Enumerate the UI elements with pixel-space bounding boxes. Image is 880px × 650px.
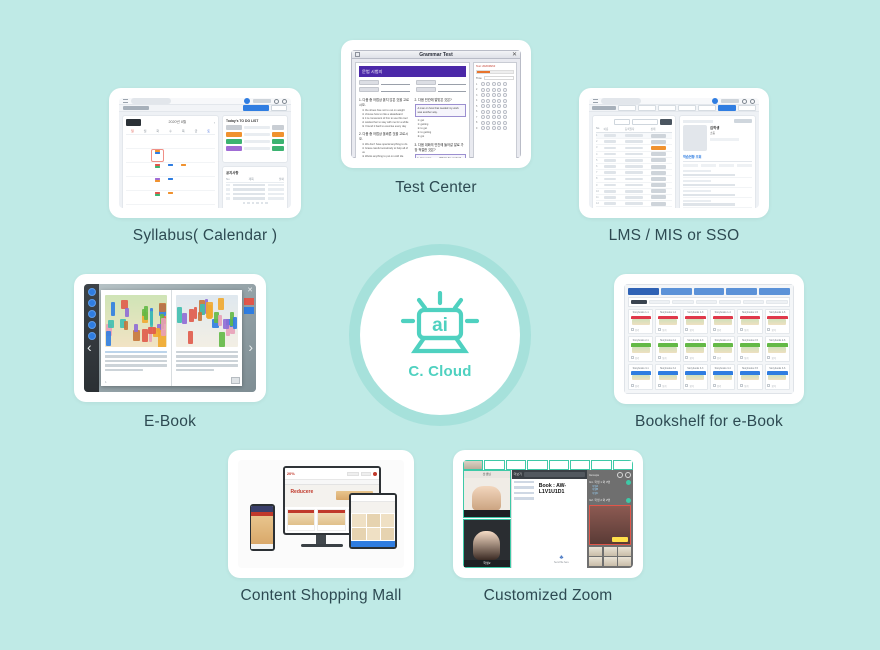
book-actions[interactable]: 보기 xyxy=(740,356,760,360)
calendar-day[interactable] xyxy=(164,191,177,205)
card-lms-mis-sso[interactable]: No이름등록일자상태 12345678910111213 김학생 xyxy=(579,88,769,218)
upload-hint: Send file here xyxy=(536,561,587,564)
board-row[interactable] xyxy=(226,197,284,200)
todo-item[interactable] xyxy=(226,139,284,144)
calendar-day[interactable] xyxy=(151,135,164,149)
bookshelf-grid[interactable]: Storybooks 1-1보기Storybooks 1-2보기Storyboo… xyxy=(628,309,790,391)
todo-title: Today's TO DO LIST xyxy=(226,119,284,123)
field-input-class[interactable] xyxy=(381,81,410,85)
card-bookshelf[interactable]: Storybooks 1-1보기Storybooks 1-2보기Storyboo… xyxy=(614,274,804,404)
book-actions[interactable]: 보기 xyxy=(685,356,705,360)
calendar-day[interactable] xyxy=(164,177,177,191)
book-cover xyxy=(767,343,787,354)
select-checkbox[interactable] xyxy=(713,384,716,387)
bookshelf-tab-1[interactable] xyxy=(661,288,692,295)
book-cell[interactable]: Storybooks 2-3보기 xyxy=(683,336,708,362)
page-text-left xyxy=(105,351,167,371)
todo-item[interactable] xyxy=(226,146,284,151)
weekday-화: 화 xyxy=(151,128,164,135)
field-input-score[interactable] xyxy=(438,88,467,92)
next-page-icon[interactable]: › xyxy=(248,340,253,354)
calendar-day[interactable] xyxy=(177,149,190,163)
bookshelf-tab-0[interactable] xyxy=(628,288,659,295)
book-actions[interactable]: 보기 xyxy=(631,384,651,388)
omr-row[interactable]: 6 xyxy=(476,110,514,114)
label-lms: LMS / MIS or SSO xyxy=(579,227,769,245)
calendar-day[interactable] xyxy=(177,177,190,191)
lms-table-panel[interactable]: No이름등록일자상태 12345678910111213 xyxy=(592,115,676,208)
calendar-day[interactable] xyxy=(202,177,215,191)
book-actions[interactable]: 보기 xyxy=(767,356,787,360)
filter-level-d[interactable] xyxy=(719,300,741,305)
calendar-day[interactable] xyxy=(151,205,164,208)
select-checkbox[interactable] xyxy=(631,356,634,359)
select-checkbox[interactable] xyxy=(631,384,634,387)
card-customized-zoom[interactable]: 선생님 학생2 더보기 xyxy=(453,450,643,578)
calendar-day[interactable] xyxy=(151,149,164,163)
participant-strip[interactable] xyxy=(463,460,633,470)
calendar-day[interactable] xyxy=(164,205,177,208)
groups-panel[interactable]: Groups G1. 학생 1 외 3명 학생A학생B학생C G2. 학생 2 … xyxy=(587,470,633,568)
select-checkbox[interactable] xyxy=(685,384,688,387)
book-cell[interactable]: Storybooks 3-1보기 xyxy=(628,364,653,390)
select-checkbox[interactable] xyxy=(713,328,716,331)
window-title: Grammar Test xyxy=(360,52,512,58)
calendar-day[interactable] xyxy=(177,191,190,205)
group-thumbnails[interactable] xyxy=(589,547,631,567)
ai-text: ai xyxy=(432,315,448,336)
device-smartphone xyxy=(250,504,275,550)
filter-level-e[interactable] xyxy=(743,300,765,305)
poster-canvas: 2020년 8월 › 일월화수목금토 Today's TO DO LIST 공지… xyxy=(0,0,880,650)
weekday-토: 토 xyxy=(202,128,215,135)
detail-item[interactable] xyxy=(683,198,752,208)
calendar-day[interactable] xyxy=(139,177,152,191)
zoom-screenshot: 선생님 학생2 더보기 xyxy=(463,460,633,568)
group-item[interactable]: G2. 학생 2 외 2명 xyxy=(589,498,631,503)
illustration-right xyxy=(176,295,238,347)
book-cover xyxy=(658,316,678,327)
bookmark-icon[interactable] xyxy=(88,288,96,296)
breadcrumb xyxy=(601,98,641,104)
weekday-월: 월 xyxy=(139,128,152,135)
select-checkbox[interactable] xyxy=(740,356,743,359)
test-center-screenshot: Grammar Test ✕ 문법 시험지 xyxy=(351,50,521,158)
test-date: Test: 2020/08/10 xyxy=(476,65,514,68)
detail-item[interactable] xyxy=(683,178,752,188)
group-video[interactable] xyxy=(589,505,631,545)
progress-bar xyxy=(476,70,514,74)
omr-row[interactable]: 2 xyxy=(476,88,514,92)
label-ebook: E-Book xyxy=(74,413,266,431)
question-2-options[interactable]: ① We don't have special anything to do ②… xyxy=(359,143,411,158)
book-cell[interactable]: Storybooks 2-2보기 xyxy=(655,336,680,362)
omr-grid[interactable]: 123456789 xyxy=(476,82,514,158)
book-cover xyxy=(767,371,787,382)
calendar-day[interactable] xyxy=(190,135,203,149)
filter-level-b[interactable] xyxy=(672,300,694,305)
todo-item[interactable] xyxy=(226,125,284,130)
secondary-action-button[interactable] xyxy=(271,105,287,111)
bookshelf-tab-4[interactable] xyxy=(759,288,790,295)
book-cover xyxy=(685,371,705,382)
filter-level-c[interactable] xyxy=(696,300,718,305)
book-actions[interactable]: 보기 xyxy=(767,328,787,332)
book-page-left: 1 xyxy=(101,290,172,386)
calendar-grid[interactable] xyxy=(126,135,215,208)
book-cell[interactable]: Storybooks 2-6보기 xyxy=(765,336,790,362)
book-actions[interactable]: 보기 xyxy=(658,356,678,360)
breadcrumb xyxy=(131,98,171,104)
tab-7[interactable] xyxy=(738,105,756,111)
group-members: 학생A학생B학생C xyxy=(589,485,631,496)
omr-row[interactable]: 8 xyxy=(476,121,514,125)
field-label-class xyxy=(359,80,379,85)
user-name xyxy=(253,99,271,103)
book-actions[interactable]: 보기 xyxy=(631,328,651,332)
section-title xyxy=(592,106,616,110)
label-shopping: Content Shopping Mall xyxy=(228,587,414,605)
lms-tabbar[interactable] xyxy=(589,105,759,112)
book-actions[interactable]: 보기 xyxy=(740,328,760,332)
lms-detail-panel: 김학생 초등 학습현황 조회 xyxy=(679,115,756,208)
close-icon[interactable]: ✕ xyxy=(512,51,517,58)
book-caption: Storybooks 3-4 xyxy=(713,367,733,370)
book-actions[interactable]: 보기 xyxy=(685,328,705,332)
product-card[interactable] xyxy=(287,509,316,531)
calendar-day[interactable] xyxy=(126,163,139,177)
page-corner-icon[interactable] xyxy=(231,377,240,384)
book-cell[interactable]: Storybooks 3-4보기 xyxy=(710,364,735,390)
participant-footer xyxy=(464,510,510,517)
book-cover xyxy=(740,371,760,382)
logo-title: C. Cloud xyxy=(408,363,471,380)
primary-action-button[interactable] xyxy=(243,105,269,111)
select-checkbox[interactable] xyxy=(685,328,688,331)
group-item[interactable]: G1. 학생 1 외 3명 학생A학생B학생C xyxy=(589,480,631,496)
select-checkbox[interactable] xyxy=(713,356,716,359)
video-tile-5[interactable] xyxy=(570,460,590,470)
lms-screenshot: No이름등록일자상태 12345678910111213 김학생 xyxy=(589,98,759,208)
calendar-day[interactable] xyxy=(126,149,139,163)
book-cover xyxy=(631,343,651,354)
detail-item[interactable] xyxy=(683,169,752,179)
product-card[interactable] xyxy=(317,509,346,531)
shopping-screenshot: 20% Reducere xyxy=(238,460,404,568)
search-button[interactable] xyxy=(660,119,672,125)
book-cell[interactable]: Storybooks 2-5보기 xyxy=(737,336,762,362)
weekday-목: 목 xyxy=(177,128,190,135)
device-tablet xyxy=(349,493,397,548)
calendar-day[interactable] xyxy=(177,205,190,208)
prev-icon[interactable] xyxy=(88,299,96,307)
select-checkbox[interactable] xyxy=(767,356,770,359)
book-cover xyxy=(740,316,760,327)
book-actions[interactable]: 보기 xyxy=(767,384,787,388)
answer-sheet-panel[interactable]: Test: 2020/08/10 Time 123456789 xyxy=(473,62,517,158)
calendar-day[interactable] xyxy=(139,149,152,163)
prev-page-icon[interactable]: ‹ xyxy=(87,340,92,354)
book-cell[interactable]: Storybooks 1-2보기 xyxy=(655,309,680,335)
question-1-options[interactable]: ① the shoes free not to out on weight ② … xyxy=(359,109,411,128)
calendar-day[interactable] xyxy=(202,163,215,177)
book-actions[interactable]: 보기 xyxy=(685,384,705,388)
document-toolbar[interactable]: 더보기 xyxy=(512,470,588,479)
field-input-date[interactable] xyxy=(438,81,467,85)
book-caption: Storybooks 2-6 xyxy=(767,339,787,342)
select-checkbox[interactable] xyxy=(740,384,743,387)
detail-action-button[interactable] xyxy=(734,119,752,123)
filter-all-button[interactable] xyxy=(631,300,647,305)
minimize-icon[interactable] xyxy=(617,472,623,478)
select-checkbox[interactable] xyxy=(658,328,661,331)
field-input-name[interactable] xyxy=(381,88,410,92)
book-cell[interactable]: Storybooks 2-1보기 xyxy=(628,336,653,362)
page-icon[interactable] xyxy=(88,310,96,318)
document-search[interactable] xyxy=(524,472,585,477)
todo-item[interactable] xyxy=(226,132,284,137)
calendar-day[interactable] xyxy=(190,191,203,205)
select-checkbox[interactable] xyxy=(767,328,770,331)
book-actions[interactable]: 보기 xyxy=(713,356,733,360)
video-tile-0[interactable] xyxy=(463,460,483,470)
weekday-일: 일 xyxy=(126,128,139,135)
bookshelf-tab-2[interactable] xyxy=(694,288,725,295)
tab-2[interactable] xyxy=(638,105,656,111)
book-actions[interactable]: 보기 xyxy=(658,328,678,332)
table-row[interactable]: 13 xyxy=(596,207,672,208)
calendar-day[interactable] xyxy=(202,135,215,149)
book-cell[interactable]: Storybooks 3-2보기 xyxy=(655,364,680,390)
menu-icon[interactable] xyxy=(123,99,128,103)
calendar-panel[interactable]: 2020년 8월 › 일월화수목금토 xyxy=(122,115,219,208)
book-cover xyxy=(685,316,705,327)
calendar-day[interactable] xyxy=(139,163,152,177)
field-label-score xyxy=(416,87,436,92)
book-cell[interactable]: Storybooks 3-6보기 xyxy=(765,364,790,390)
calendar-day[interactable] xyxy=(126,191,139,205)
book-caption: Storybooks 3-3 xyxy=(685,367,705,370)
gear-icon[interactable] xyxy=(274,99,279,104)
label-syllabus: Syllabus( Calendar ) xyxy=(109,227,301,245)
calendar-day[interactable] xyxy=(164,163,177,177)
shop-logo: 20% xyxy=(287,471,295,476)
select-checkbox[interactable] xyxy=(631,328,634,331)
c-cloud-logo: ai C. Cloud xyxy=(360,255,520,415)
tab-6-active[interactable] xyxy=(718,105,736,111)
card-ebook[interactable]: ‹ › ✕ 1 xyxy=(74,274,266,402)
calendar-day[interactable] xyxy=(126,177,139,191)
power-icon[interactable] xyxy=(282,99,287,104)
illustration-left xyxy=(105,295,167,347)
search-input[interactable] xyxy=(632,119,658,125)
book-actions[interactable]: 보기 xyxy=(713,384,733,388)
calendar-day[interactable] xyxy=(190,149,203,163)
book-caption: Storybooks 2-5 xyxy=(740,339,760,342)
book-actions[interactable]: 보기 xyxy=(631,356,651,360)
participant-student1[interactable]: 학생2 xyxy=(463,519,511,568)
flag-red-icon[interactable] xyxy=(244,298,254,305)
select-checkbox[interactable] xyxy=(658,356,661,359)
book-cover xyxy=(713,316,733,327)
book-actions[interactable]: 보기 xyxy=(713,328,733,332)
calendar-day[interactable] xyxy=(190,177,203,191)
power-icon[interactable] xyxy=(750,99,755,104)
calendar-day[interactable] xyxy=(126,135,139,149)
card-content-shopping-mall[interactable]: 20% Reducere xyxy=(228,450,414,578)
book-caption: Storybooks 1-3 xyxy=(685,311,705,314)
book-caption: Storybooks 1-2 xyxy=(658,311,678,314)
group-status-icon[interactable] xyxy=(626,480,631,485)
card-test-center[interactable]: Grammar Test ✕ 문법 시험지 xyxy=(341,40,531,168)
book-caption: Storybooks 1-1 xyxy=(631,311,651,314)
participant-teacher[interactable]: 선생님 xyxy=(463,470,511,519)
student-level: 초등 xyxy=(710,131,752,135)
question-3: 2. 다음 빈칸에 알맞은 것은? xyxy=(415,97,467,102)
omr-row[interactable]: 9 xyxy=(476,126,514,130)
bookshelf-screenshot: Storybooks 1-1보기Storybooks 1-2보기Storyboo… xyxy=(624,284,794,394)
book-caption: Storybooks 3-2 xyxy=(658,367,678,370)
bookshelf-tabs[interactable] xyxy=(628,288,790,295)
participant-name: 학생2 xyxy=(464,560,510,567)
book-actions[interactable]: 보기 xyxy=(658,384,678,388)
book-caption: Storybooks 3-1 xyxy=(631,367,651,370)
video-tile-2[interactable] xyxy=(506,460,526,470)
book-caption: Storybooks 3-5 xyxy=(740,367,760,370)
weekday-수: 수 xyxy=(164,128,177,135)
calendar-day[interactable] xyxy=(202,191,215,205)
omr-row[interactable]: 7 xyxy=(476,115,514,119)
book-caption: Storybooks 1-6 xyxy=(767,311,787,314)
omr-row[interactable]: 1 xyxy=(476,82,514,86)
bookshelf-filters[interactable] xyxy=(628,297,790,307)
book-cell[interactable]: Storybooks 3-5보기 xyxy=(737,364,762,390)
video-tile-4[interactable] xyxy=(549,460,569,470)
calendar-day[interactable] xyxy=(190,205,203,208)
document-panel[interactable]: 더보기 Book : AW-L1V1U1D1 ♣ Sen xyxy=(511,470,588,568)
document-list[interactable] xyxy=(512,479,536,568)
book-caption: Storybooks 2-4 xyxy=(713,339,733,342)
calendar-day[interactable] xyxy=(126,205,139,208)
book-cell[interactable]: Storybooks 1-6보기 xyxy=(765,309,790,335)
ai-laptop-icon: ai xyxy=(397,291,483,357)
calendar-weekdays: 일월화수목금토 xyxy=(126,128,215,135)
book-cell[interactable]: Storybooks 1-4보기 xyxy=(710,309,735,335)
calendar-day[interactable] xyxy=(202,149,215,163)
avatar xyxy=(712,98,718,104)
select-checkbox[interactable] xyxy=(685,356,688,359)
omr-row[interactable]: 4 xyxy=(476,99,514,103)
board-row[interactable] xyxy=(226,184,284,187)
test-paper: 문법 시험지 xyxy=(355,62,470,158)
calendar-day[interactable] xyxy=(151,163,164,177)
video-tile-1[interactable] xyxy=(484,460,504,470)
next-month-icon[interactable]: › xyxy=(214,120,215,125)
select-checkbox[interactable] xyxy=(740,328,743,331)
field-label-date xyxy=(416,80,436,85)
bookshelf-tab-3[interactable] xyxy=(726,288,757,295)
board-row[interactable] xyxy=(226,193,284,196)
pagination[interactable] xyxy=(226,202,284,205)
close-icon[interactable]: ✕ xyxy=(247,286,253,294)
ebook-toolbar[interactable] xyxy=(84,284,99,392)
expand-icon[interactable] xyxy=(625,472,631,478)
user-name xyxy=(721,99,739,103)
ebook-screenshot: ‹ › ✕ 1 xyxy=(84,284,256,392)
video-badge xyxy=(612,537,628,542)
student-name: 김학생 xyxy=(710,125,752,130)
document-menu[interactable]: 더보기 xyxy=(514,472,522,476)
gear-icon[interactable] xyxy=(742,99,747,104)
filter-level-a[interactable] xyxy=(649,300,671,305)
tab-3[interactable] xyxy=(658,105,676,111)
select-checkbox[interactable] xyxy=(658,384,661,387)
groups-title: Groups xyxy=(589,473,599,477)
calendar-day[interactable] xyxy=(177,135,190,149)
group-status-icon[interactable] xyxy=(626,498,631,503)
book-cover xyxy=(658,371,678,382)
calendar-day[interactable] xyxy=(139,191,152,205)
book-actions[interactable]: 보기 xyxy=(740,384,760,388)
calendar-day[interactable] xyxy=(139,135,152,149)
page-number-left: 1 xyxy=(105,380,107,384)
filter-select[interactable] xyxy=(614,119,630,125)
detail-item[interactable] xyxy=(683,188,752,198)
calendar-day[interactable] xyxy=(177,163,190,177)
book-cell[interactable]: Storybooks 2-4보기 xyxy=(710,336,735,362)
book-cell[interactable]: Storybooks 1-1보기 xyxy=(628,309,653,335)
omr-row[interactable]: 5 xyxy=(476,104,514,108)
tab-5[interactable] xyxy=(698,105,716,111)
tab-1[interactable] xyxy=(618,105,636,111)
timer-value xyxy=(484,76,514,80)
tab-4[interactable] xyxy=(678,105,696,111)
question-2-stem: 2. 다음 중 어법상 올바른 것을 고르시오. xyxy=(359,131,411,141)
calendar-day[interactable] xyxy=(151,191,164,205)
next-icon[interactable] xyxy=(88,321,96,329)
page-text-right xyxy=(176,351,238,371)
card-syllabus-calendar[interactable]: 2020년 8월 › 일월화수목금토 Today's TO DO LIST 공지… xyxy=(109,88,301,218)
omr-row[interactable]: 3 xyxy=(476,93,514,97)
calendar-day[interactable] xyxy=(164,135,177,149)
menu-icon[interactable] xyxy=(593,99,598,103)
book-code: Book : AW-L1V1U1D1 xyxy=(539,483,584,495)
board-row[interactable] xyxy=(226,188,284,191)
book-caption: Storybooks 1-4 xyxy=(713,311,733,314)
question-3-options[interactable]: ① get② getting③ to get④ to getting⑤ got xyxy=(415,119,467,138)
passage-box-2: ▶ Hey mom ____. What's the matter? ▶ My … xyxy=(415,154,467,158)
calendar-day[interactable] xyxy=(190,163,203,177)
calendar-day[interactable] xyxy=(164,149,177,163)
book-cell[interactable]: Storybooks 1-5보기 xyxy=(737,309,762,335)
calendar-day[interactable] xyxy=(202,205,215,208)
syllabus-topbar xyxy=(119,98,291,105)
calendar-day[interactable] xyxy=(139,205,152,208)
select-checkbox[interactable] xyxy=(767,384,770,387)
book-cover xyxy=(767,316,787,327)
filter-level-f[interactable] xyxy=(766,300,788,305)
group-name: G1. 학생 1 외 3명 xyxy=(589,480,610,484)
today-button[interactable] xyxy=(126,119,141,126)
participant-column[interactable]: 선생님 학생2 xyxy=(463,470,511,568)
flag-blue-icon[interactable] xyxy=(244,307,254,314)
video-tile-7[interactable] xyxy=(613,460,633,470)
book-cell[interactable]: Storybooks 3-3보기 xyxy=(683,364,708,390)
video-tile-3[interactable] xyxy=(527,460,547,470)
calendar-day[interactable] xyxy=(151,177,164,191)
video-tile-6[interactable] xyxy=(591,460,611,470)
book-cell[interactable]: Storybooks 1-3보기 xyxy=(683,309,708,335)
